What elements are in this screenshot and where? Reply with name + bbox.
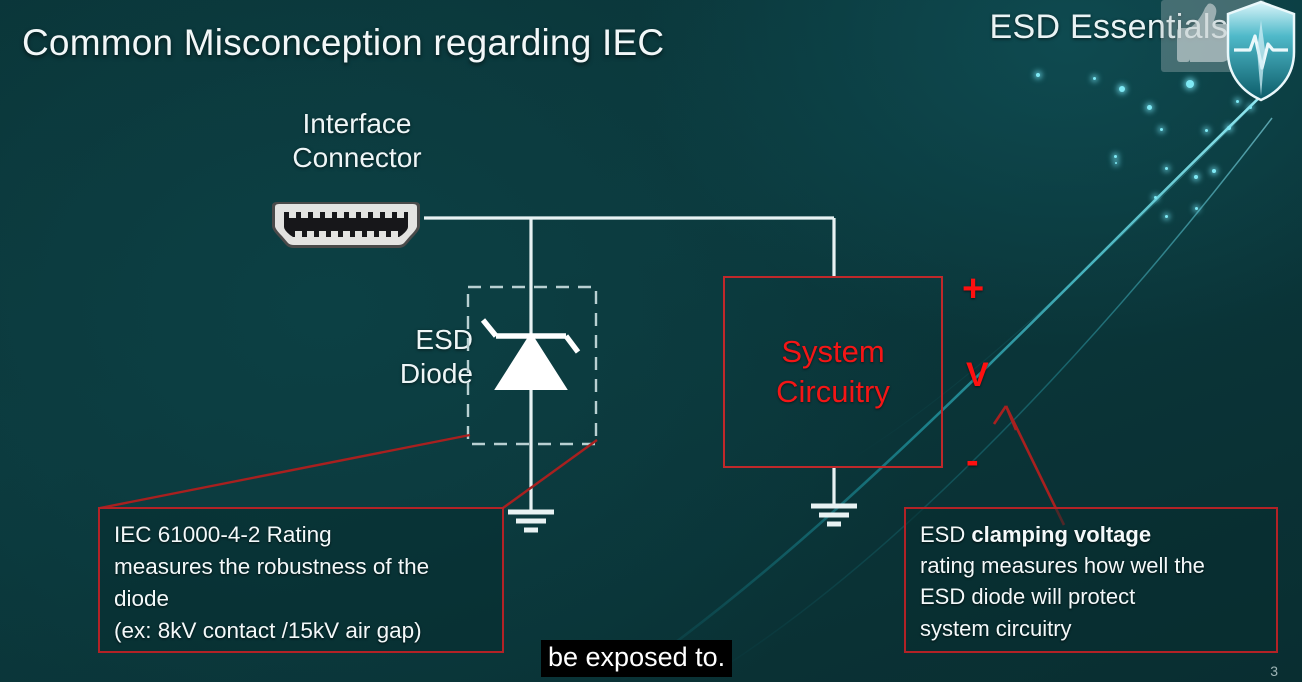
ground-icon bbox=[508, 512, 554, 530]
polarity-plus-label: + bbox=[962, 268, 984, 311]
callout-left-leader bbox=[100, 435, 597, 508]
callout-right-line3: ESD diode will protect bbox=[920, 581, 1276, 612]
system-circuitry-box: System Circuitry bbox=[723, 276, 943, 468]
callout-iec-rating: IEC 61000-4-2 Rating measures the robust… bbox=[98, 507, 504, 653]
callout-left-line3: diode bbox=[114, 583, 502, 615]
callout-right-line1: ESD clamping voltage bbox=[920, 519, 1276, 550]
callout-clamping-voltage: ESD clamping voltage rating measures how… bbox=[904, 507, 1278, 653]
callout-left-line2: measures the robustness of the bbox=[114, 551, 502, 583]
callout-right-line2: rating measures how well the bbox=[920, 550, 1276, 581]
callout-right-line4: system circuitry bbox=[920, 613, 1276, 644]
polarity-minus-label: - bbox=[966, 440, 979, 483]
callout-left-line1: IEC 61000-4-2 Rating bbox=[114, 519, 502, 551]
callout-left-line4: (ex: 8kV contact /15kV air gap) bbox=[114, 615, 502, 647]
video-caption: be exposed to. bbox=[541, 640, 732, 677]
callout-right-line1-plain: ESD bbox=[920, 522, 971, 547]
polarity-voltage-label: V bbox=[966, 356, 989, 395]
callout-right-line1-bold: clamping voltage bbox=[971, 522, 1151, 547]
slide-canvas: Common Misconception regarding IEC ESD E… bbox=[0, 0, 1302, 682]
system-box-line2: Circuitry bbox=[776, 372, 890, 412]
system-box-line1: System bbox=[776, 332, 890, 372]
page-number: 3 bbox=[1270, 663, 1278, 679]
ground-icon bbox=[811, 506, 857, 524]
